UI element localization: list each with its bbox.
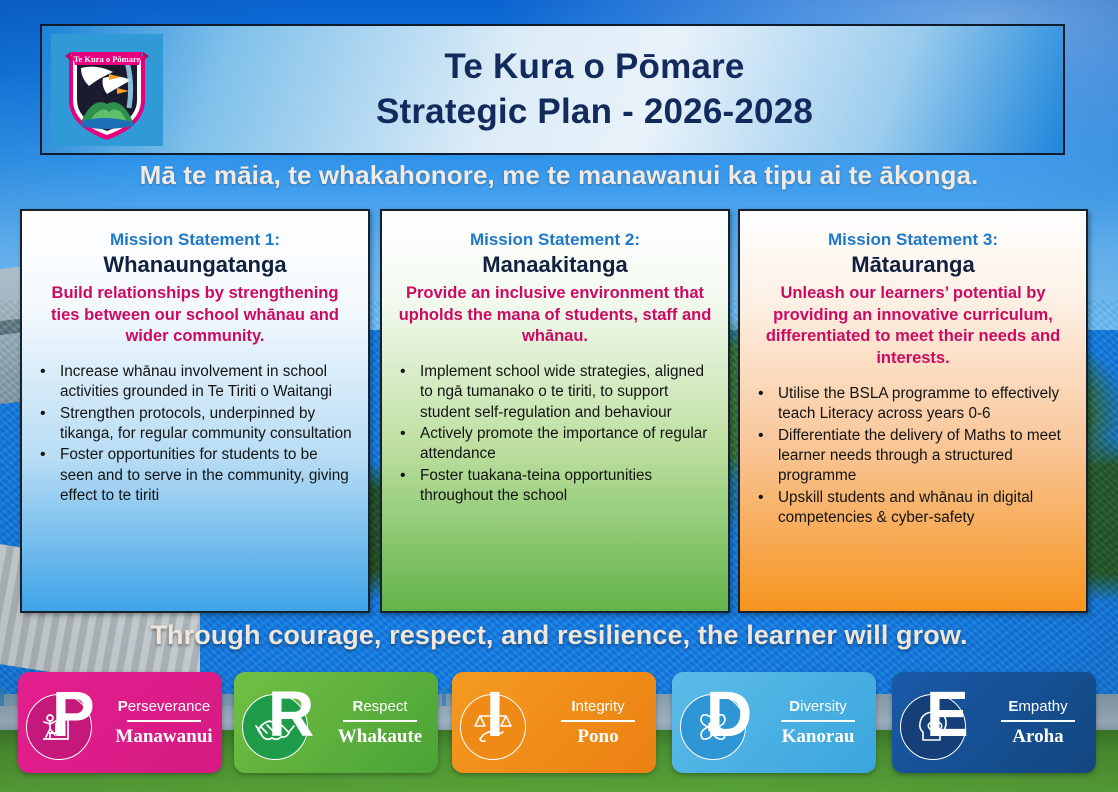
mission-card-2: Mission Statement 2: Manaakitanga Provid… [380,209,730,613]
crest-banner-text: Te Kura o Pōmare [74,54,141,64]
list-item: Actively promote the importance of regul… [396,424,714,465]
title-line-1: Te Kura o Pōmare [166,45,1023,90]
value-tile-empathy: E Empathy Aroha [892,672,1096,773]
value-tile-integrity: I Integrity Pono [452,672,656,773]
mission-card-1: Mission Statement 1: Whanaungatanga Buil… [20,209,370,613]
value-maori-whakaute: Whakaute [330,726,430,748]
mission-description-3: Unleash our learners’ potential by provi… [754,283,1072,370]
list-item: Differentiate the delivery of Maths to m… [754,426,1072,487]
value-mark: P [18,672,114,773]
value-letter-p: P [52,682,95,746]
list-item: Strengthen protocols, underpinned by tik… [36,404,354,445]
divider [343,720,417,722]
value-rest: espect [363,698,407,715]
mission-title-2: Manaakitanga [396,251,714,279]
mission-label-3: Mission Statement 3: [754,229,1072,250]
value-text: Perseverance Manawanui [114,698,222,748]
value-mark: I [452,672,548,773]
motto-maori: Mā te māia, te whakahonore, me te manawa… [0,160,1118,191]
value-english-respect: Respect [330,698,430,716]
value-letter-i: I [486,682,504,746]
value-rest: erseverance [128,698,211,715]
value-english-diversity: Diversity [768,698,868,716]
value-letter-r: R [268,682,314,746]
value-english-perseverance: Perseverance [114,698,214,716]
value-initial: E [1008,698,1018,715]
mission-bullets-1: Increase whānau involvement in school ac… [36,362,354,507]
mission-label-2: Mission Statement 2: [396,229,714,250]
value-maori-pono: Pono [548,726,648,748]
value-tile-diversity: D Diversity Kanorau [672,672,876,773]
value-initial: R [352,698,363,715]
header-banner: Te Kura o Pōmare Te Kura o Pōmare Strate… [40,24,1065,155]
mission-title-3: Mātauranga [754,251,1072,279]
mission-bullets-2: Implement school wide strategies, aligne… [396,362,714,507]
value-mark: E [892,672,988,773]
divider [561,720,635,722]
value-text: Integrity Pono [548,698,656,748]
motto-english: Through courage, respect, and resilience… [0,620,1118,651]
school-crest-icon: Te Kura o Pōmare [48,31,166,149]
value-maori-kanorau: Kanorau [768,726,868,748]
list-item: Utilise the BSLA programme to effectivel… [754,384,1072,425]
value-letter-d: D [706,682,752,746]
mission-title-1: Whanaungatanga [36,251,354,279]
divider [127,720,201,722]
mission-bullets-3: Utilise the BSLA programme to effectivel… [754,384,1072,529]
value-tile-perseverance: P Perseverance Manawanui [18,672,222,773]
value-rest: iversity [800,698,847,715]
value-rest: ntegrity [575,698,624,715]
value-maori-manawanui: Manawanui [114,726,214,748]
page-title: Te Kura o Pōmare Strategic Plan - 2026-2… [166,45,1063,135]
list-item: Foster tuakana-teina opportunities throu… [396,466,714,507]
value-maori-aroha: Aroha [988,726,1088,748]
title-line-2: Strategic Plan - 2026-2028 [166,90,1023,135]
list-item: Upskill students and whānau in digital c… [754,488,1072,529]
mission-card-3: Mission Statement 3: Mātauranga Unleash … [738,209,1088,613]
value-tile-respect: R Respect Whakaute [234,672,438,773]
value-english-integrity: Integrity [548,698,648,716]
value-initial: D [789,698,800,715]
value-mark: D [672,672,768,773]
value-initial: P [118,698,128,715]
divider [1001,720,1075,722]
list-item: Foster opportunities for students to be … [36,445,354,506]
school-values: P Perseverance Manawanui R Respect [0,672,1118,776]
value-rest: mpathy [1018,698,1067,715]
divider [781,720,855,722]
list-item: Increase whānau involvement in school ac… [36,362,354,403]
mission-description-2: Provide an inclusive environment that up… [396,283,714,348]
value-text: Empathy Aroha [988,698,1096,748]
value-text: Respect Whakaute [330,698,438,748]
mission-label-1: Mission Statement 1: [36,229,354,250]
mission-description-1: Build relationships by strengthening tie… [36,283,354,348]
value-letter-e: E [926,682,969,746]
value-text: Diversity Kanorau [768,698,876,748]
value-mark: R [234,672,330,773]
list-item: Implement school wide strategies, aligne… [396,362,714,423]
value-english-empathy: Empathy [988,698,1088,716]
mission-cards: Mission Statement 1: Whanaungatanga Buil… [0,209,1118,613]
